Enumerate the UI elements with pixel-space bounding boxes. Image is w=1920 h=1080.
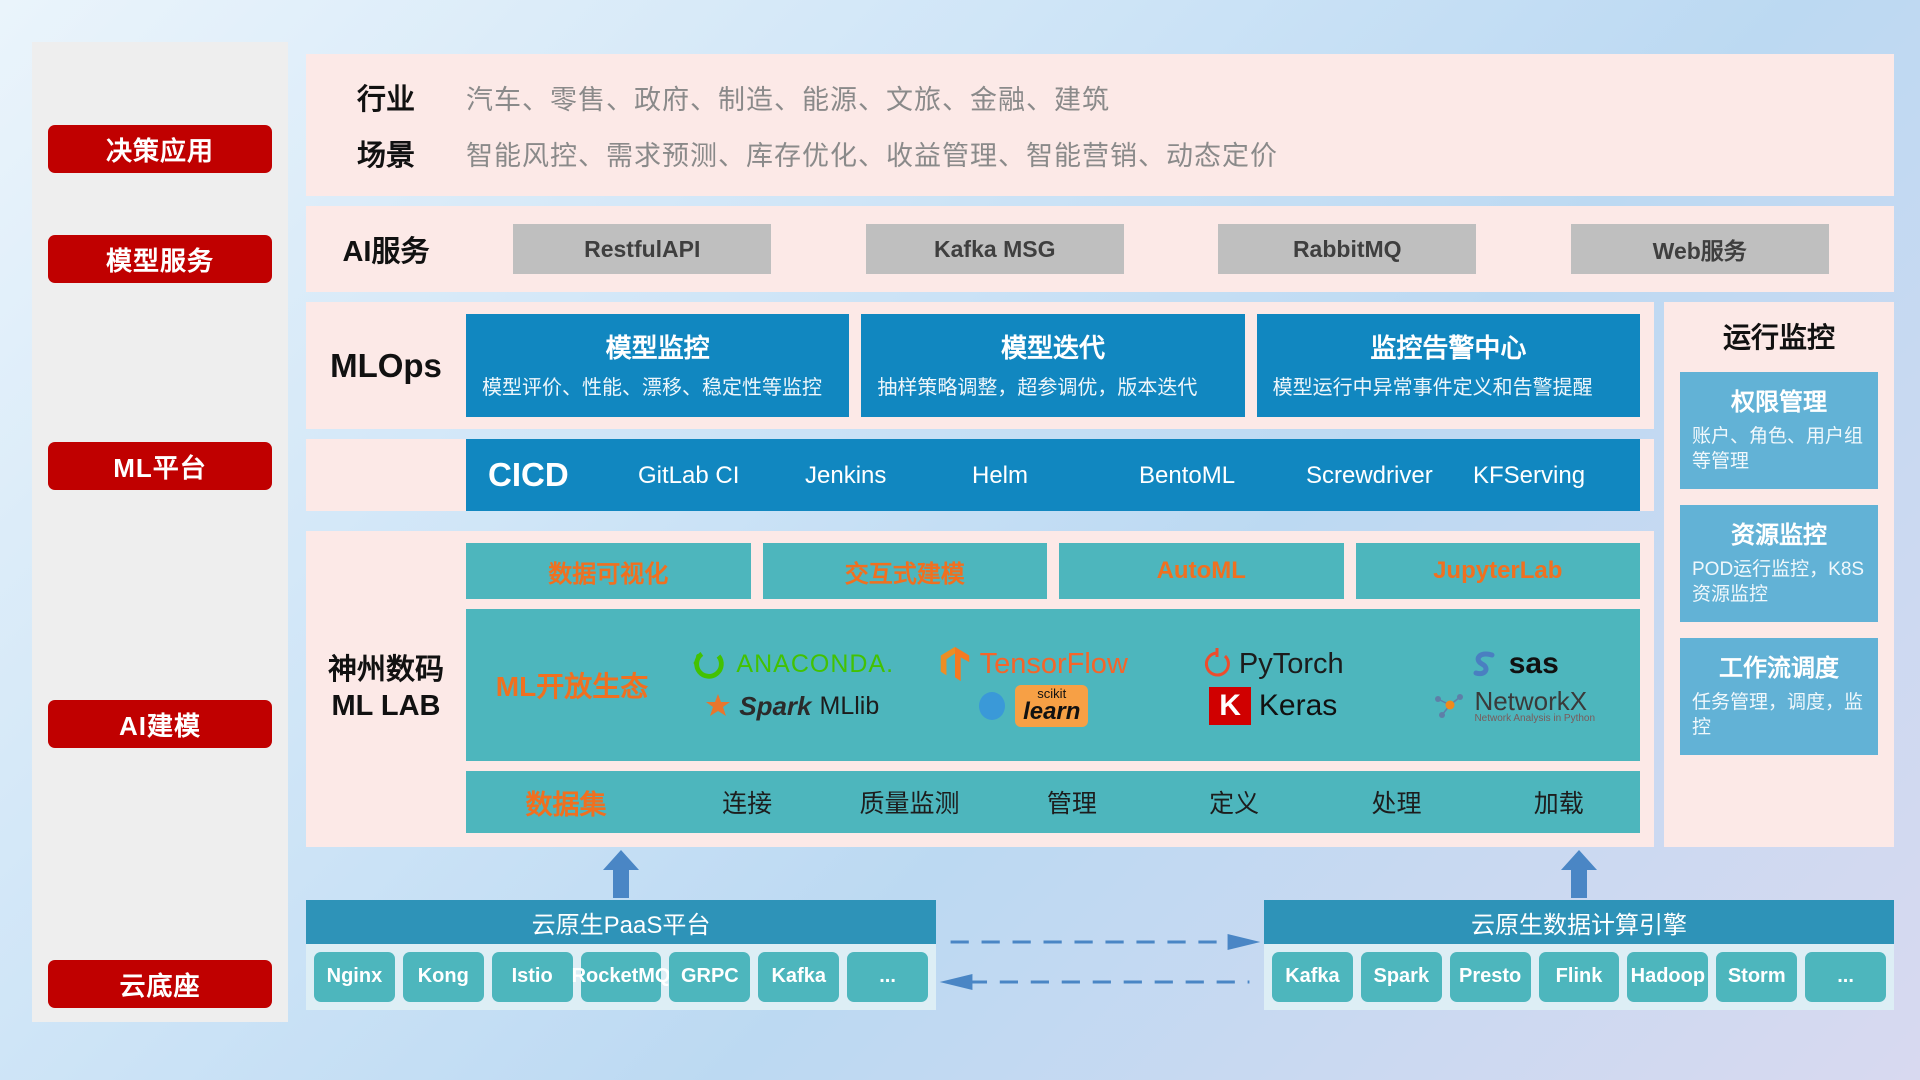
anaconda-mark-icon [690, 645, 728, 683]
pytorch-logo: PyTorch [1203, 647, 1344, 681]
cloud-base-section: 云原生PaaS平台 Nginx Kong Istio RocketMQ GRPC… [306, 900, 1894, 1025]
mlops-card-model-monitoring[interactable]: 模型监控 模型评价、性能、漂移、稳定性等监控 [466, 314, 849, 417]
cloud-chip-spark[interactable]: Spark [1361, 952, 1442, 1002]
monitor-card-workflow[interactable]: 工作流调度 任务管理，调度，监控 [1680, 638, 1878, 755]
dataset-title: 数据集 [466, 783, 666, 822]
cloud-chip-kafka-engine[interactable]: Kafka [1272, 952, 1353, 1002]
ml-open-ecosystem-box: ML开放生态 ANACONDA. [466, 609, 1640, 761]
rail-chip-label: 决策应用 [106, 131, 214, 168]
cicd-spacer [306, 439, 466, 511]
dataset-item-connect[interactable]: 连接 [666, 784, 828, 820]
cloud-chip-grpc[interactable]: GRPC [669, 952, 750, 1002]
rail-chip-decision-app[interactable]: 决策应用 [48, 125, 272, 173]
industry-label: 行业 [306, 76, 466, 118]
industry-scenario-band: 行业 汽车、零售、政府、制造、能源、文旅、金融、建筑 场景 智能风控、需求预测、… [306, 54, 1894, 196]
cloud-chip-kong[interactable]: Kong [403, 952, 484, 1002]
networkx-wordmark: NetworkX [1474, 688, 1595, 714]
ai-service-item-kafka-msg[interactable]: Kafka MSG [866, 224, 1124, 274]
scikit-learn-badge: scikit learn [1015, 685, 1088, 727]
mlops-card-title: 模型迭代 [877, 328, 1228, 365]
ecosystem-logo-grid: ANACONDA. TensorFlow [672, 643, 1634, 727]
scikit-blue-blob-icon [977, 691, 1007, 721]
anaconda-logo: ANACONDA. [690, 645, 894, 683]
cicd-item-kfserving[interactable]: KFServing [1473, 463, 1640, 488]
tensorflow-logo: TensorFlow [938, 645, 1128, 683]
networkx-subtitle: Network Analysis in Python [1474, 714, 1595, 724]
sas-wordmark: sas [1509, 647, 1559, 681]
monitor-card-title: 工作流调度 [1692, 648, 1866, 683]
mlops-card-desc: 模型评价、性能、漂移、稳定性等监控 [482, 375, 833, 401]
cloud-paas-items: Nginx Kong Istio RocketMQ GRPC Kafka ... [306, 944, 936, 1010]
platform-section: MLOps 模型监控 模型评价、性能、漂移、稳定性等监控 模型迭代 抽样策略调整… [306, 302, 1894, 847]
dataset-item-quality-monitoring[interactable]: 质量监测 [828, 784, 990, 820]
cloud-chip-rocketmq[interactable]: RocketMQ [581, 952, 662, 1002]
bidirectional-dashed-arrows-icon [936, 900, 1264, 1020]
industry-row: 行业 汽车、零售、政府、制造、能源、文旅、金融、建筑 [306, 76, 1894, 118]
rail-chip-label: AI建模 [119, 706, 201, 743]
networkx-wordmark-group: NetworkX Network Analysis in Python [1474, 688, 1595, 724]
cicd-item-helm[interactable]: Helm [972, 463, 1139, 488]
pytorch-mark-icon [1203, 647, 1231, 681]
tensorflow-wordmark: TensorFlow [980, 648, 1128, 681]
cloud-chip-nginx[interactable]: Nginx [314, 952, 395, 1002]
keras-mark-icon: K [1209, 687, 1251, 725]
cloud-chip-hadoop[interactable]: Hadoop [1627, 952, 1708, 1002]
monitor-card-resource[interactable]: 资源监控 POD运行监控，K8S资源监控 [1680, 505, 1878, 622]
anaconda-wordmark: ANACONDA. [736, 650, 894, 679]
mlops-card-alert-center[interactable]: 监控告警中心 模型运行中异常事件定义和告警提醒 [1257, 314, 1640, 417]
mlops-card-desc: 模型运行中异常事件定义和告警提醒 [1273, 375, 1624, 401]
cloud-paas-group: 云原生PaaS平台 Nginx Kong Istio RocketMQ GRPC… [306, 900, 936, 1010]
dataset-bar: 数据集 连接 质量监测 管理 定义 处理 加载 [466, 771, 1640, 833]
up-arrow-paas-icon [601, 850, 641, 898]
cloud-chip-storm[interactable]: Storm [1716, 952, 1797, 1002]
pytorch-wordmark: PyTorch [1239, 648, 1344, 681]
runtime-monitor-title: 运行监控 [1680, 316, 1878, 356]
industry-value: 汽车、零售、政府、制造、能源、文旅、金融、建筑 [466, 78, 1110, 117]
cloud-engine-items: Kafka Spark Presto Flink Hadoop Storm ..… [1264, 944, 1894, 1010]
scenario-label: 场景 [306, 132, 466, 174]
ai-service-item-restfulapi[interactable]: RestfulAPI [513, 224, 771, 274]
spark-star-icon [705, 693, 731, 719]
mlops-card-title: 监控告警中心 [1273, 328, 1624, 365]
tool-tab-jupyterlab[interactable]: JupyterLab [1356, 543, 1641, 599]
cicd-item-gitlab-ci[interactable]: GitLab CI [638, 463, 805, 488]
rail-chip-label: ML平台 [113, 448, 207, 485]
cloud-chip-presto[interactable]: Presto [1450, 952, 1531, 1002]
cloud-paas-title: 云原生PaaS平台 [306, 900, 936, 944]
rail-chip-ai-modeling[interactable]: AI建模 [48, 700, 272, 748]
platform-left-column: MLOps 模型监控 模型评价、性能、漂移、稳定性等监控 模型迭代 抽样策略调整… [306, 302, 1654, 847]
scenario-row: 场景 智能风控、需求预测、库存优化、收益管理、智能营销、动态定价 [306, 132, 1894, 174]
networkx-logo: NetworkX Network Analysis in Python [1432, 688, 1595, 724]
cloud-chip-kafka[interactable]: Kafka [758, 952, 839, 1002]
mlops-card-title: 模型监控 [482, 328, 833, 365]
cloud-chip-flink[interactable]: Flink [1539, 952, 1620, 1002]
up-arrow-engine-icon [1559, 850, 1599, 898]
rail-chip-model-service[interactable]: 模型服务 [48, 235, 272, 283]
dataset-item-define[interactable]: 定义 [1153, 784, 1315, 820]
monitor-card-title: 资源监控 [1692, 515, 1866, 550]
cloud-chip-more[interactable]: ... [847, 952, 928, 1002]
scikit-learn-logo: scikit learn [977, 685, 1088, 727]
cicd-item-screwdriver[interactable]: Screwdriver [1306, 463, 1473, 488]
ai-modeling-band: 神州数码 ML LAB 数据可视化 交互式建模 AutoML JupyterLa… [306, 531, 1654, 847]
mlops-band: MLOps 模型监控 模型评价、性能、漂移、稳定性等监控 模型迭代 抽样策略调整… [306, 302, 1654, 429]
mlops-cards: 模型监控 模型评价、性能、漂移、稳定性等监控 模型迭代 抽样策略调整，超参调优，… [466, 314, 1640, 417]
tool-tab-automl[interactable]: AutoML [1059, 543, 1344, 599]
ai-service-item-web[interactable]: Web服务 [1571, 224, 1829, 274]
cloud-chip-istio[interactable]: Istio [492, 952, 573, 1002]
scenario-value: 智能风控、需求预测、库存优化、收益管理、智能营销、动态定价 [466, 134, 1278, 173]
ml-lab-label-line1: 神州数码 [328, 654, 444, 686]
tool-tabs: 数据可视化 交互式建模 AutoML JupyterLab [466, 543, 1640, 599]
cloud-link-arrows [936, 900, 1264, 1025]
tensorflow-mark-icon [938, 645, 972, 683]
cicd-bar: CICD GitLab CI Jenkins Helm BentoML Scre… [466, 439, 1640, 511]
spark-mllib-logo: Spark MLlib [705, 691, 879, 722]
monitor-card-title: 权限管理 [1692, 382, 1866, 417]
tool-tab-data-visualization[interactable]: 数据可视化 [466, 543, 751, 599]
sas-logo: sas [1469, 647, 1559, 681]
cloud-chip-more-engine[interactable]: ... [1805, 952, 1886, 1002]
mlops-card-desc: 抽样策略调整，超参调优，版本迭代 [877, 375, 1228, 401]
rail-chip-cloud-base[interactable]: 云底座 [48, 960, 272, 1008]
cicd-item-jenkins[interactable]: Jenkins [805, 463, 972, 488]
rail-chip-label: 模型服务 [106, 241, 214, 278]
monitor-card-desc: 账户、角色、用户组等管理 [1692, 424, 1866, 475]
mlops-card-model-iteration[interactable]: 模型迭代 抽样策略调整，超参调优，版本迭代 [861, 314, 1244, 417]
keras-logo: K Keras [1209, 687, 1337, 725]
monitor-card-desc: 任务管理，调度，监控 [1692, 690, 1866, 741]
learn-word: learn [1023, 700, 1080, 724]
dataset-item-manage[interactable]: 管理 [991, 784, 1153, 820]
ai-service-item-rabbitmq[interactable]: RabbitMQ [1218, 224, 1476, 274]
keras-wordmark: Keras [1259, 689, 1337, 723]
monitor-card-desc: POD运行监控，K8S资源监控 [1692, 557, 1866, 608]
cloud-engine-title: 云原生数据计算引擎 [1264, 900, 1894, 944]
cicd-items: GitLab CI Jenkins Helm BentoML Screwdriv… [638, 463, 1640, 488]
cloud-engine-group: 云原生数据计算引擎 Kafka Spark Presto Flink Hadoo… [1264, 900, 1894, 1010]
mlops-label: MLOps [306, 314, 466, 417]
ai-service-items: RestfulAPI Kafka MSG RabbitMQ Web服务 [466, 224, 1894, 274]
networkx-graph-icon [1432, 691, 1466, 721]
dataset-items: 连接 质量监测 管理 定义 处理 加载 [666, 784, 1640, 820]
rail-chip-label: 云底座 [119, 966, 200, 1003]
ml-lab-label: 神州数码 ML LAB [306, 543, 466, 833]
ai-service-band: AI服务 RestfulAPI Kafka MSG RabbitMQ Web服务 [306, 206, 1894, 292]
modeling-content: 数据可视化 交互式建模 AutoML JupyterLab ML开放生态 [466, 543, 1640, 833]
dataset-item-process[interactable]: 处理 [1315, 784, 1477, 820]
sas-mark-icon [1469, 648, 1501, 680]
spark-wordmark: Spark [739, 691, 811, 722]
ml-open-ecosystem-label: ML开放生态 [472, 665, 672, 705]
tool-tab-interactive-modeling[interactable]: 交互式建模 [763, 543, 1048, 599]
rail-chip-ml-platform[interactable]: ML平台 [48, 442, 272, 490]
runtime-monitor-panel: 运行监控 权限管理 账户、角色、用户组等管理 资源监控 POD运行监控，K8S资… [1664, 302, 1894, 847]
cicd-band: CICD GitLab CI Jenkins Helm BentoML Scre… [306, 439, 1654, 511]
cicd-title: CICD [488, 456, 638, 494]
layer-rail: 决策应用 模型服务 ML平台 AI建模 云底座 [32, 42, 288, 1022]
dataset-item-load[interactable]: 加载 [1478, 784, 1640, 820]
ai-service-label: AI服务 [306, 228, 466, 270]
cicd-item-bentoml[interactable]: BentoML [1139, 463, 1306, 488]
mllib-wordmark: MLlib [820, 692, 880, 721]
ml-lab-label-line2: ML LAB [331, 690, 440, 722]
monitor-card-permission[interactable]: 权限管理 账户、角色、用户组等管理 [1680, 372, 1878, 489]
